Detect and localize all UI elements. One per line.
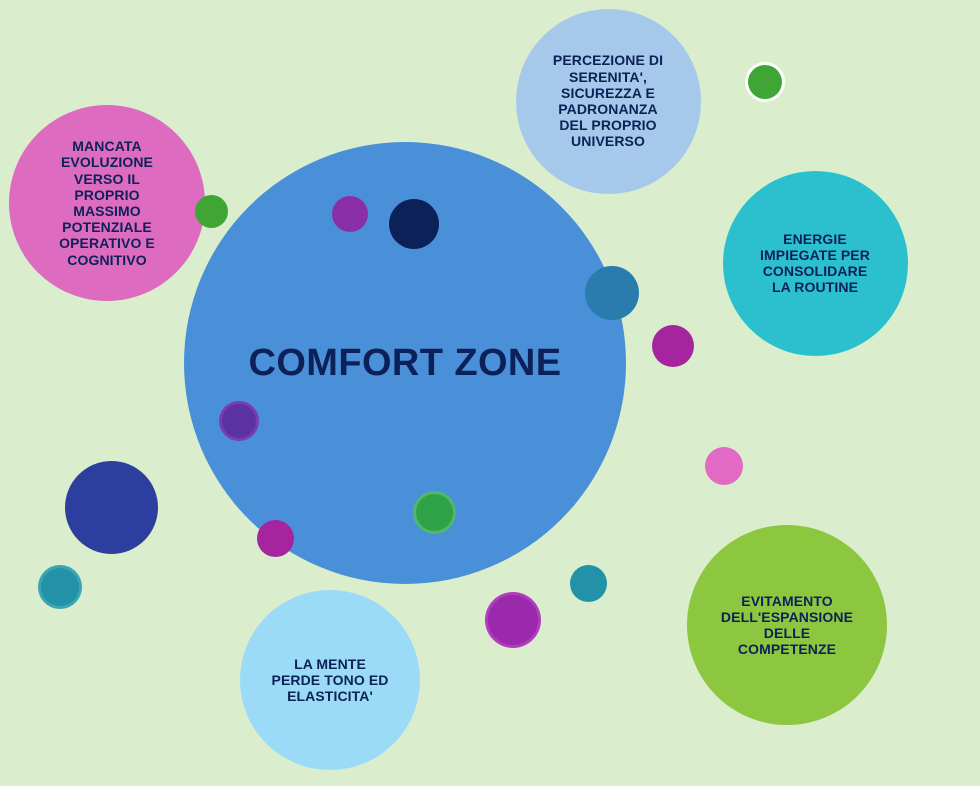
dot-steel-right <box>585 266 639 320</box>
dot-purple-inner-left <box>222 404 256 438</box>
dot-pink-right <box>705 447 743 485</box>
dot-teal-bottom <box>570 565 607 602</box>
dot-green-left <box>195 195 228 228</box>
dot-purple-top <box>332 196 368 232</box>
dot-green-bottom <box>416 494 453 531</box>
center-bubble-label: COMFORT ZONE <box>249 342 562 385</box>
dot-magenta-right <box>652 325 694 367</box>
bubble-label-energie-impiegate: ENERGIE IMPIEGATE PER CONSOLIDARE LA ROU… <box>754 231 876 296</box>
diagram-canvas: COMFORT ZONEMANCATA EVOLUZIONE VERSO IL … <box>0 0 980 786</box>
bubble-percezione-di-serenita: PERCEZIONE DI SERENITA', SICUREZZA E PAD… <box>516 9 701 194</box>
bubble-label-percezione-di-serenita: PERCEZIONE DI SERENITA', SICUREZZA E PAD… <box>547 52 669 149</box>
bubble-label-evitamento-espansione: EVITAMENTO DELL'ESPANSIONE DELLE COMPETE… <box>715 593 859 658</box>
bubble-label-la-mente-perde-tono: LA MENTE PERDE TONO ED ELASTICITA' <box>266 656 395 705</box>
dot-teal-bottomleft <box>41 568 79 606</box>
dot-magenta-bottom <box>257 520 294 557</box>
dot-navy-top <box>389 199 439 249</box>
bubble-evitamento-espansione: EVITAMENTO DELL'ESPANSIONE DELLE COMPETE… <box>687 525 887 725</box>
dot-purple-bottom <box>488 595 538 645</box>
bubble-label-mancata-evoluzione: MANCATA EVOLUZIONE VERSO IL PROPRIO MASS… <box>53 138 161 268</box>
dot-green-topright <box>748 65 782 99</box>
bubble-mancata-evoluzione: MANCATA EVOLUZIONE VERSO IL PROPRIO MASS… <box>9 105 205 301</box>
bubble-la-mente-perde-tono: LA MENTE PERDE TONO ED ELASTICITA' <box>240 590 420 770</box>
dot-navy-blue-left <box>65 461 158 554</box>
bubble-energie-impiegate: ENERGIE IMPIEGATE PER CONSOLIDARE LA ROU… <box>723 171 908 356</box>
